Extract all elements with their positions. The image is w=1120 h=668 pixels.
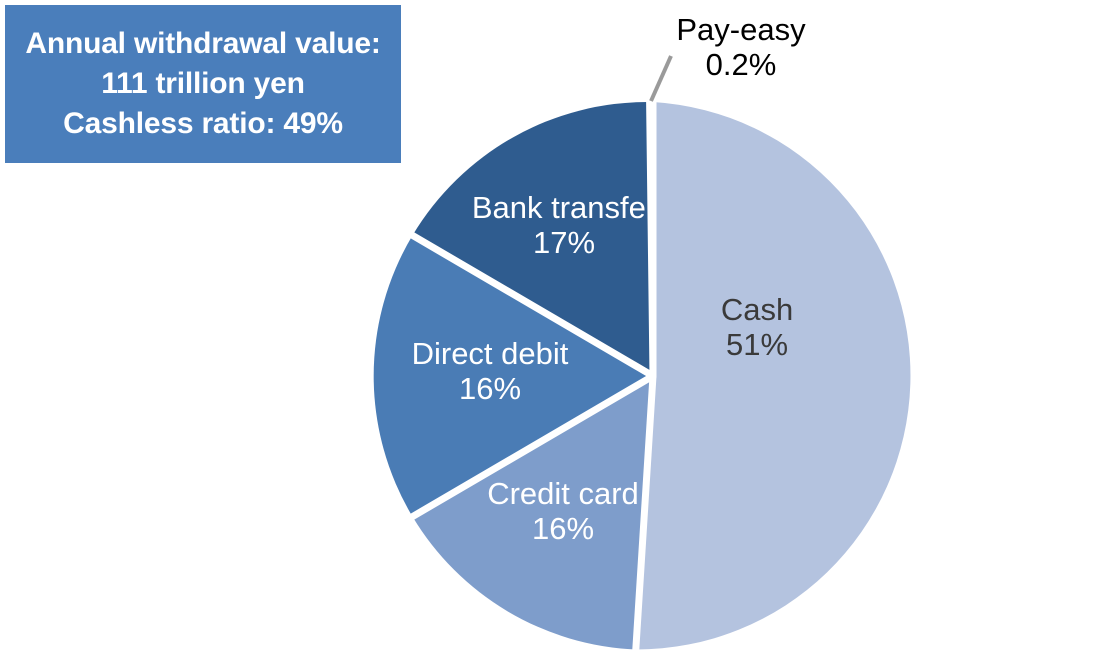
chart-canvas: Annual withdrawal value: 111 trillion ye… bbox=[0, 0, 1120, 668]
summary-callout-box: Annual withdrawal value: 111 trillion ye… bbox=[5, 5, 401, 163]
pie-slice-cash[interactable] bbox=[636, 102, 911, 650]
pay-easy-leader-line bbox=[651, 56, 671, 101]
callout-line-2: 111 trillion yen bbox=[101, 64, 305, 104]
separator-bank-transfer bbox=[650, 102, 653, 376]
callout-line-1: Annual withdrawal value: bbox=[25, 24, 380, 64]
callout-line-3: Cashless ratio: 49% bbox=[63, 104, 343, 144]
